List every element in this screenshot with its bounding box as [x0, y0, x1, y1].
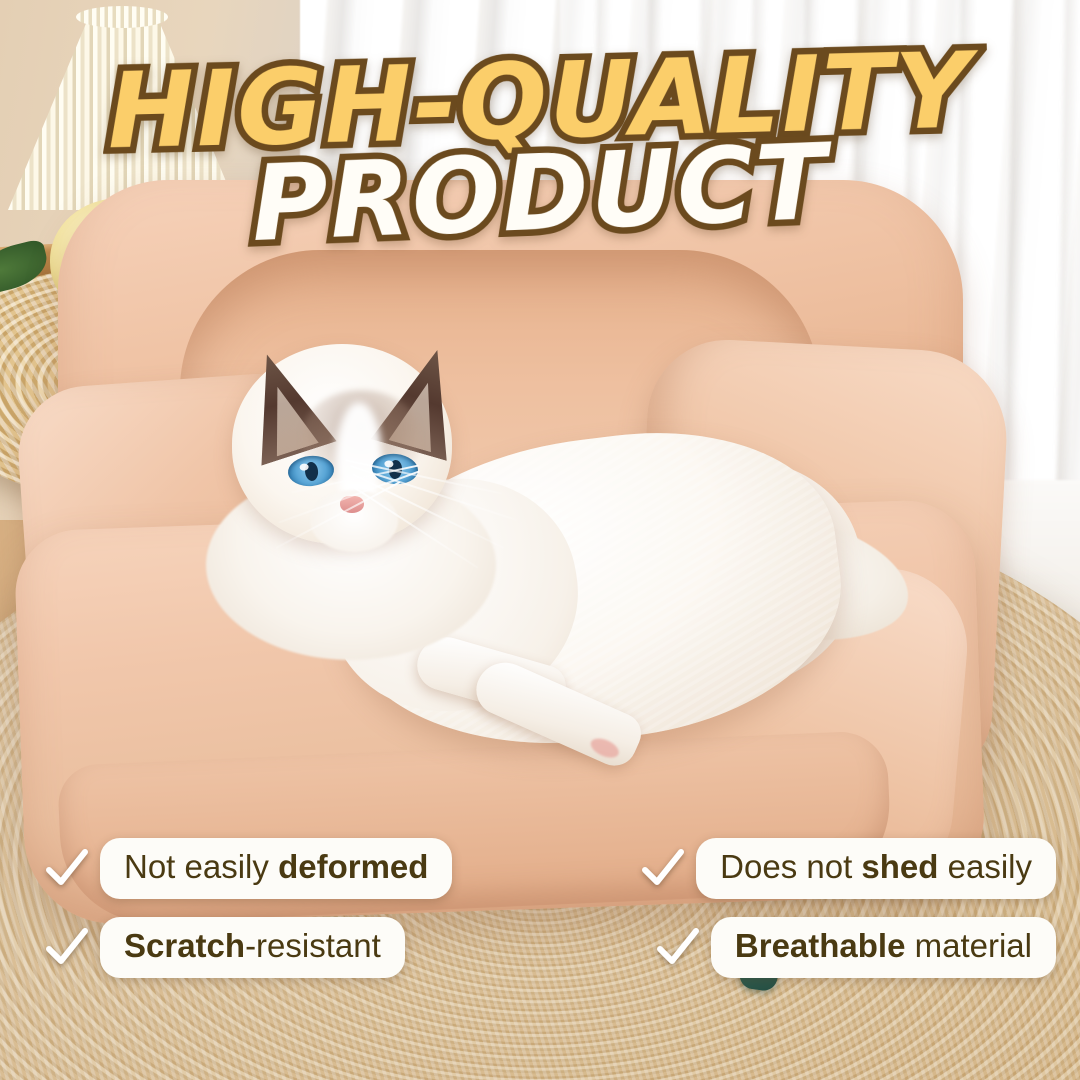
feature-emphasis: Breathable	[735, 927, 906, 964]
check-icon	[640, 845, 686, 891]
check-icon	[655, 924, 701, 970]
feature-pill-shed: Does not shed easily	[696, 838, 1056, 899]
feature-suffix: -resistant	[245, 927, 381, 964]
feature-suffix: material	[905, 927, 1032, 964]
check-icon	[44, 845, 90, 891]
lamp-shade-top	[76, 6, 168, 28]
feature-pill-scratch: Scratch-resistant	[100, 917, 405, 978]
feature-emphasis: shed	[861, 848, 938, 885]
feature-row-1: Not easily deformed Does not shed easily	[0, 838, 1080, 899]
feature-item-breathable[interactable]: Breathable material	[655, 917, 1056, 978]
feature-item-scratch[interactable]: Scratch-resistant	[44, 917, 405, 978]
feature-pill-deformed: Not easily deformed	[100, 838, 452, 899]
cat-toe-beans	[588, 735, 622, 762]
ragdoll-cat	[210, 320, 850, 790]
feature-pill-breathable: Breathable material	[711, 917, 1056, 978]
cat-whiskers	[194, 470, 504, 620]
feature-badge-list: Not easily deformed Does not shed easily…	[0, 838, 1080, 978]
product-ad-image: HIGH-QUALITY PRODUCT Not easily deformed…	[0, 0, 1080, 1080]
feature-suffix: easily	[938, 848, 1032, 885]
feature-emphasis: Scratch	[124, 927, 245, 964]
feature-prefix: Does not	[720, 848, 861, 885]
feature-item-deformed[interactable]: Not easily deformed	[44, 838, 452, 899]
feature-prefix: Not easily	[124, 848, 278, 885]
feature-emphasis: deformed	[278, 848, 428, 885]
check-icon	[44, 924, 90, 970]
feature-item-shed[interactable]: Does not shed easily	[640, 838, 1056, 899]
feature-row-2: Scratch-resistant Breathable material	[0, 917, 1080, 978]
